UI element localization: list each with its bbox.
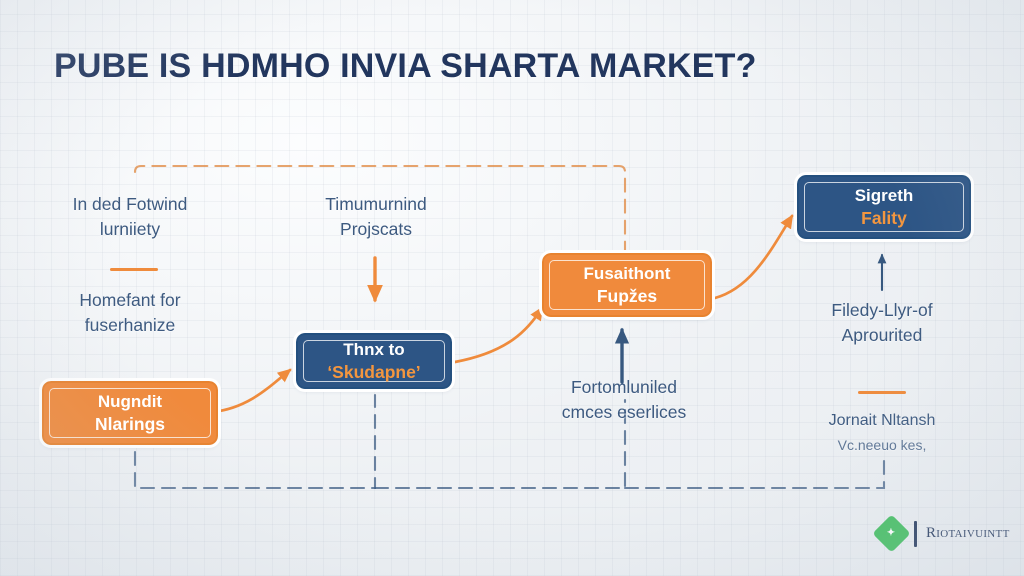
annotation-right-lower-line1: Jornait Nltansh <box>829 412 936 429</box>
annotation-right-upper-line1: Filedy-Llyr-of <box>831 300 932 320</box>
node-mandate-line2: Nlarings <box>95 413 165 436</box>
node-growth-line2: Fality <box>861 207 907 230</box>
annotation-center-lower-line1: Fortomluniled <box>571 377 677 397</box>
annotation-center-lower: Fortomluniled cmces eserlices <box>524 375 724 425</box>
node-thanks-line2: ‘Skudapne’ <box>327 361 420 384</box>
slide-canvas: PUBE IS HDMHO INVIA SHARTA MARKET? In de… <box>0 0 1024 576</box>
annotation-right-upper: Filedy-Llyr-of Aprourited <box>782 298 982 348</box>
annotation-right-lower: Jornait Nltansh Vc.neeuo kes, <box>782 408 982 458</box>
divider-left <box>110 268 158 271</box>
node-thanks[interactable]: Thnx to ‘Skudapne’ <box>296 333 452 389</box>
logo-wordmark: Riotaivuintt <box>926 525 1010 542</box>
logo-diamond-glyph: ✦ <box>887 528 895 538</box>
annotation-left-lower-line2: fuserhanize <box>28 313 232 338</box>
node-functions-line1: Fusaithont <box>584 262 671 285</box>
annotation-right-lower-line2: Vc.neeuo kes, <box>782 433 982 458</box>
annotation-center-upper-line1: Timumurnind <box>325 194 426 214</box>
logo-divider <box>914 521 917 547</box>
annotation-left-upper-line2: lurniiety <box>28 217 232 242</box>
annotation-right-upper-line2: Aprourited <box>782 323 982 348</box>
annotation-left-lower-line1: Homefant for <box>79 290 180 310</box>
page-title: PUBE IS HDMHO INVIA SHARTA MARKET? <box>54 47 757 86</box>
annotation-left-lower: Homefant for fuserhanize <box>28 288 232 338</box>
annotation-left-upper-line1: In ded Fotwind <box>73 194 188 214</box>
divider-right <box>858 391 906 394</box>
annotation-center-upper: Timumurnind Projscats <box>278 192 474 242</box>
node-growth[interactable]: Sigreth Fality <box>797 175 971 239</box>
annotation-center-upper-line2: Projscats <box>278 217 474 242</box>
brand-logo: ✦ Riotaivuintt <box>878 520 1010 547</box>
annotation-center-lower-line2: cmces eserlices <box>524 400 724 425</box>
node-functions-line2: Fupžes <box>597 285 657 308</box>
node-growth-line1: Sigreth <box>855 184 914 207</box>
node-functions[interactable]: Fusaithont Fupžes <box>542 253 712 317</box>
node-thanks-line1: Thnx to <box>343 338 404 361</box>
node-mandate[interactable]: Nugndit Nlarings <box>42 381 218 445</box>
annotation-left-upper: In ded Fotwind lurniiety <box>28 192 232 242</box>
logo-diamond-icon: ✦ <box>872 514 910 552</box>
node-mandate-line1: Nugndit <box>98 390 162 413</box>
